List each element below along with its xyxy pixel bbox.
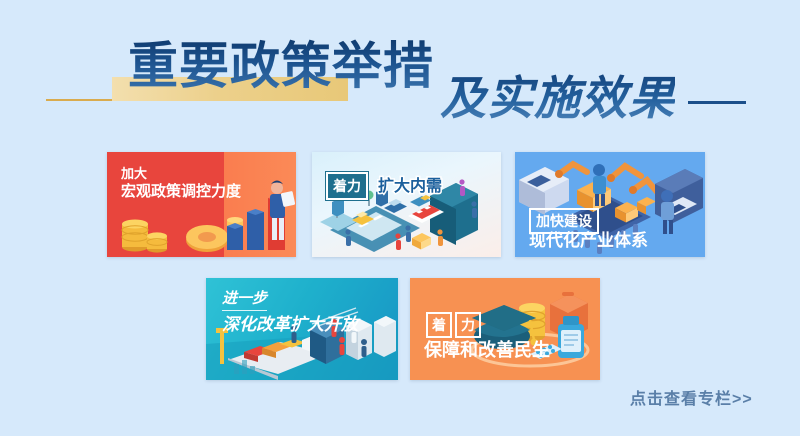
card3-line2: 现代化产业体系 (529, 231, 648, 251)
coin-stack-icon (122, 220, 167, 253)
card1-line2: 宏观政策调控力度 (121, 183, 241, 201)
port-building-icon (374, 316, 396, 357)
card5-badge-char-1: 着 (426, 312, 452, 338)
card1-line1: 加大 (121, 166, 241, 181)
reform-opening-caption: 进一步 深化改革扩大开放 (222, 290, 358, 335)
modern-industry-card[interactable]: 加快建设 现代化产业体系 (515, 152, 705, 257)
page-subtitle: 及实施效果 (440, 72, 675, 124)
reform-opening-card[interactable]: 进一步 深化改革扩大开放 (206, 278, 398, 380)
header-rule-right (688, 101, 746, 104)
domestic-demand-card[interactable]: 着力 扩大内需 (312, 152, 501, 257)
card4-line2: 深化改革扩大开放 (222, 315, 358, 335)
domestic-demand-illustration (312, 152, 501, 257)
torus-icon (186, 225, 228, 252)
card2-line2: 扩大内需 (378, 172, 442, 196)
livelihood-card[interactable]: 着 力 保障和改善民生 (410, 278, 600, 380)
person-icon (270, 181, 295, 241)
worker-icon (661, 190, 674, 234)
card2-badge: 着力 (326, 172, 368, 200)
truck-icon (410, 195, 431, 207)
parcel-icon (412, 233, 431, 250)
page-title: 重要政策举措 (128, 38, 434, 94)
view-column-link[interactable]: 点击查看专栏>> (630, 385, 753, 409)
city-isometric-icon (312, 152, 501, 257)
card4-line1: 进一步 (222, 290, 267, 311)
kiosk-icon (332, 199, 344, 217)
page-header: 重要政策举措 及实施效果 (0, 0, 800, 140)
macro-policy-caption: 加大 宏观政策调控力度 (121, 166, 241, 201)
card5-line2: 保障和改善民生 (424, 340, 550, 361)
card5-badge-char-2: 力 (455, 312, 481, 338)
card5-badge-group: 着 力 (426, 312, 481, 338)
poster-stage: 重要政策举措 及实施效果 (0, 0, 800, 436)
macro-policy-card[interactable]: 加大 宏观政策调控力度 (107, 152, 296, 257)
